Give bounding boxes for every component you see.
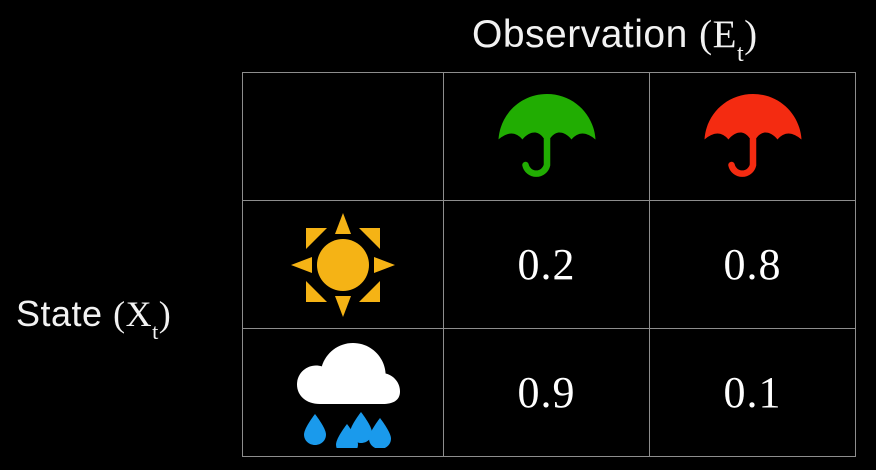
state-subscript: t (152, 319, 159, 344)
corner-cell (243, 73, 444, 201)
table-row: 0.9 0.1 (243, 329, 856, 457)
observation-axis-label: Observation (Et) (472, 12, 758, 58)
probability-cell: 0.2 (444, 201, 650, 329)
state-close-paren: ) (159, 294, 172, 334)
state-variable: X (126, 294, 153, 334)
row-header-rain (243, 329, 444, 457)
umbrella-green-icon (444, 73, 649, 200)
row-header-sun (243, 201, 444, 329)
probability-cell: 0.1 (650, 329, 856, 457)
observation-open-paren: ( (699, 13, 713, 56)
observation-variable: E (713, 13, 737, 56)
probability-cell: 0.9 (444, 329, 650, 457)
header-cell-umbrella-up (444, 73, 650, 201)
slide-canvas: Observation (Et) State (Xt) (0, 0, 876, 470)
conditional-probability-table: 0.2 0.8 (242, 72, 856, 457)
observation-close-paren: ) (744, 13, 758, 56)
observation-subscript: t (737, 40, 744, 67)
table-row: 0.2 0.8 (243, 201, 856, 329)
state-axis-label: State (Xt) (16, 293, 171, 335)
state-label-text: State (16, 293, 103, 334)
table-header-row (243, 73, 856, 201)
sun-icon (243, 201, 443, 328)
umbrella-red-icon (650, 73, 855, 200)
header-cell-umbrella-down (650, 73, 856, 201)
observation-label-text: Observation (472, 13, 688, 56)
rain-cloud-icon (243, 329, 443, 456)
probability-cell: 0.8 (650, 201, 856, 329)
state-open-paren: ( (113, 294, 126, 334)
